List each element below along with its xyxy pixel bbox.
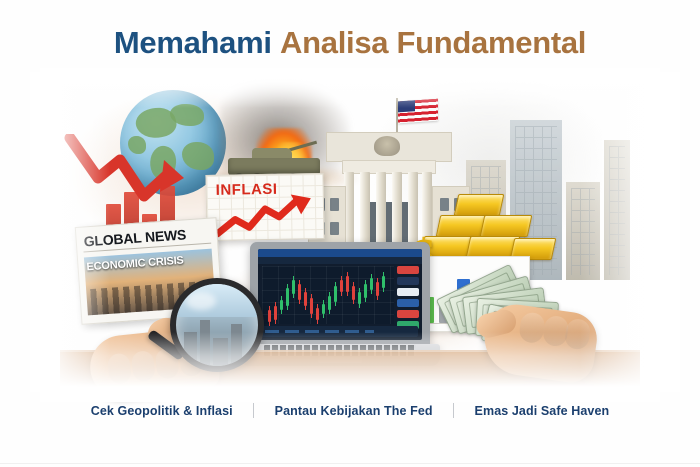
footer-item-safe-haven: Emas Jadi Safe Haven — [475, 404, 610, 418]
left-fade — [30, 72, 110, 392]
title-part-bronze: Analisa Fundamental — [280, 25, 586, 60]
title-part-blue: Memahami — [114, 25, 272, 60]
top-fade — [40, 68, 660, 108]
page-title: Memahami Analisa Fundamental — [0, 24, 700, 62]
footer-tagline-bar: Cek Geopolitik & Inflasi Pantau Kebijaka… — [0, 402, 700, 420]
laptop-lid — [250, 242, 430, 346]
illustration-collage: INFLASI $ GLOBAL NEWS ECON — [60, 82, 640, 382]
footer-item-the-fed: Pantau Kebijakan The Fed — [275, 404, 433, 418]
candlestick-chart — [262, 266, 394, 324]
bottom-fade — [40, 332, 660, 402]
right-fade — [580, 72, 680, 392]
laptop-screen — [258, 249, 422, 340]
bottom-edge-line — [0, 463, 700, 464]
footer-separator — [453, 403, 454, 418]
inflation-sign: INFLASI — [205, 173, 324, 241]
rising-red-arrow-icon — [211, 192, 322, 238]
poster-canvas: Memahami Analisa Fundamental — [0, 0, 700, 467]
footer-item-geopolitik: Cek Geopolitik & Inflasi — [91, 404, 233, 418]
footer-separator — [253, 403, 254, 418]
